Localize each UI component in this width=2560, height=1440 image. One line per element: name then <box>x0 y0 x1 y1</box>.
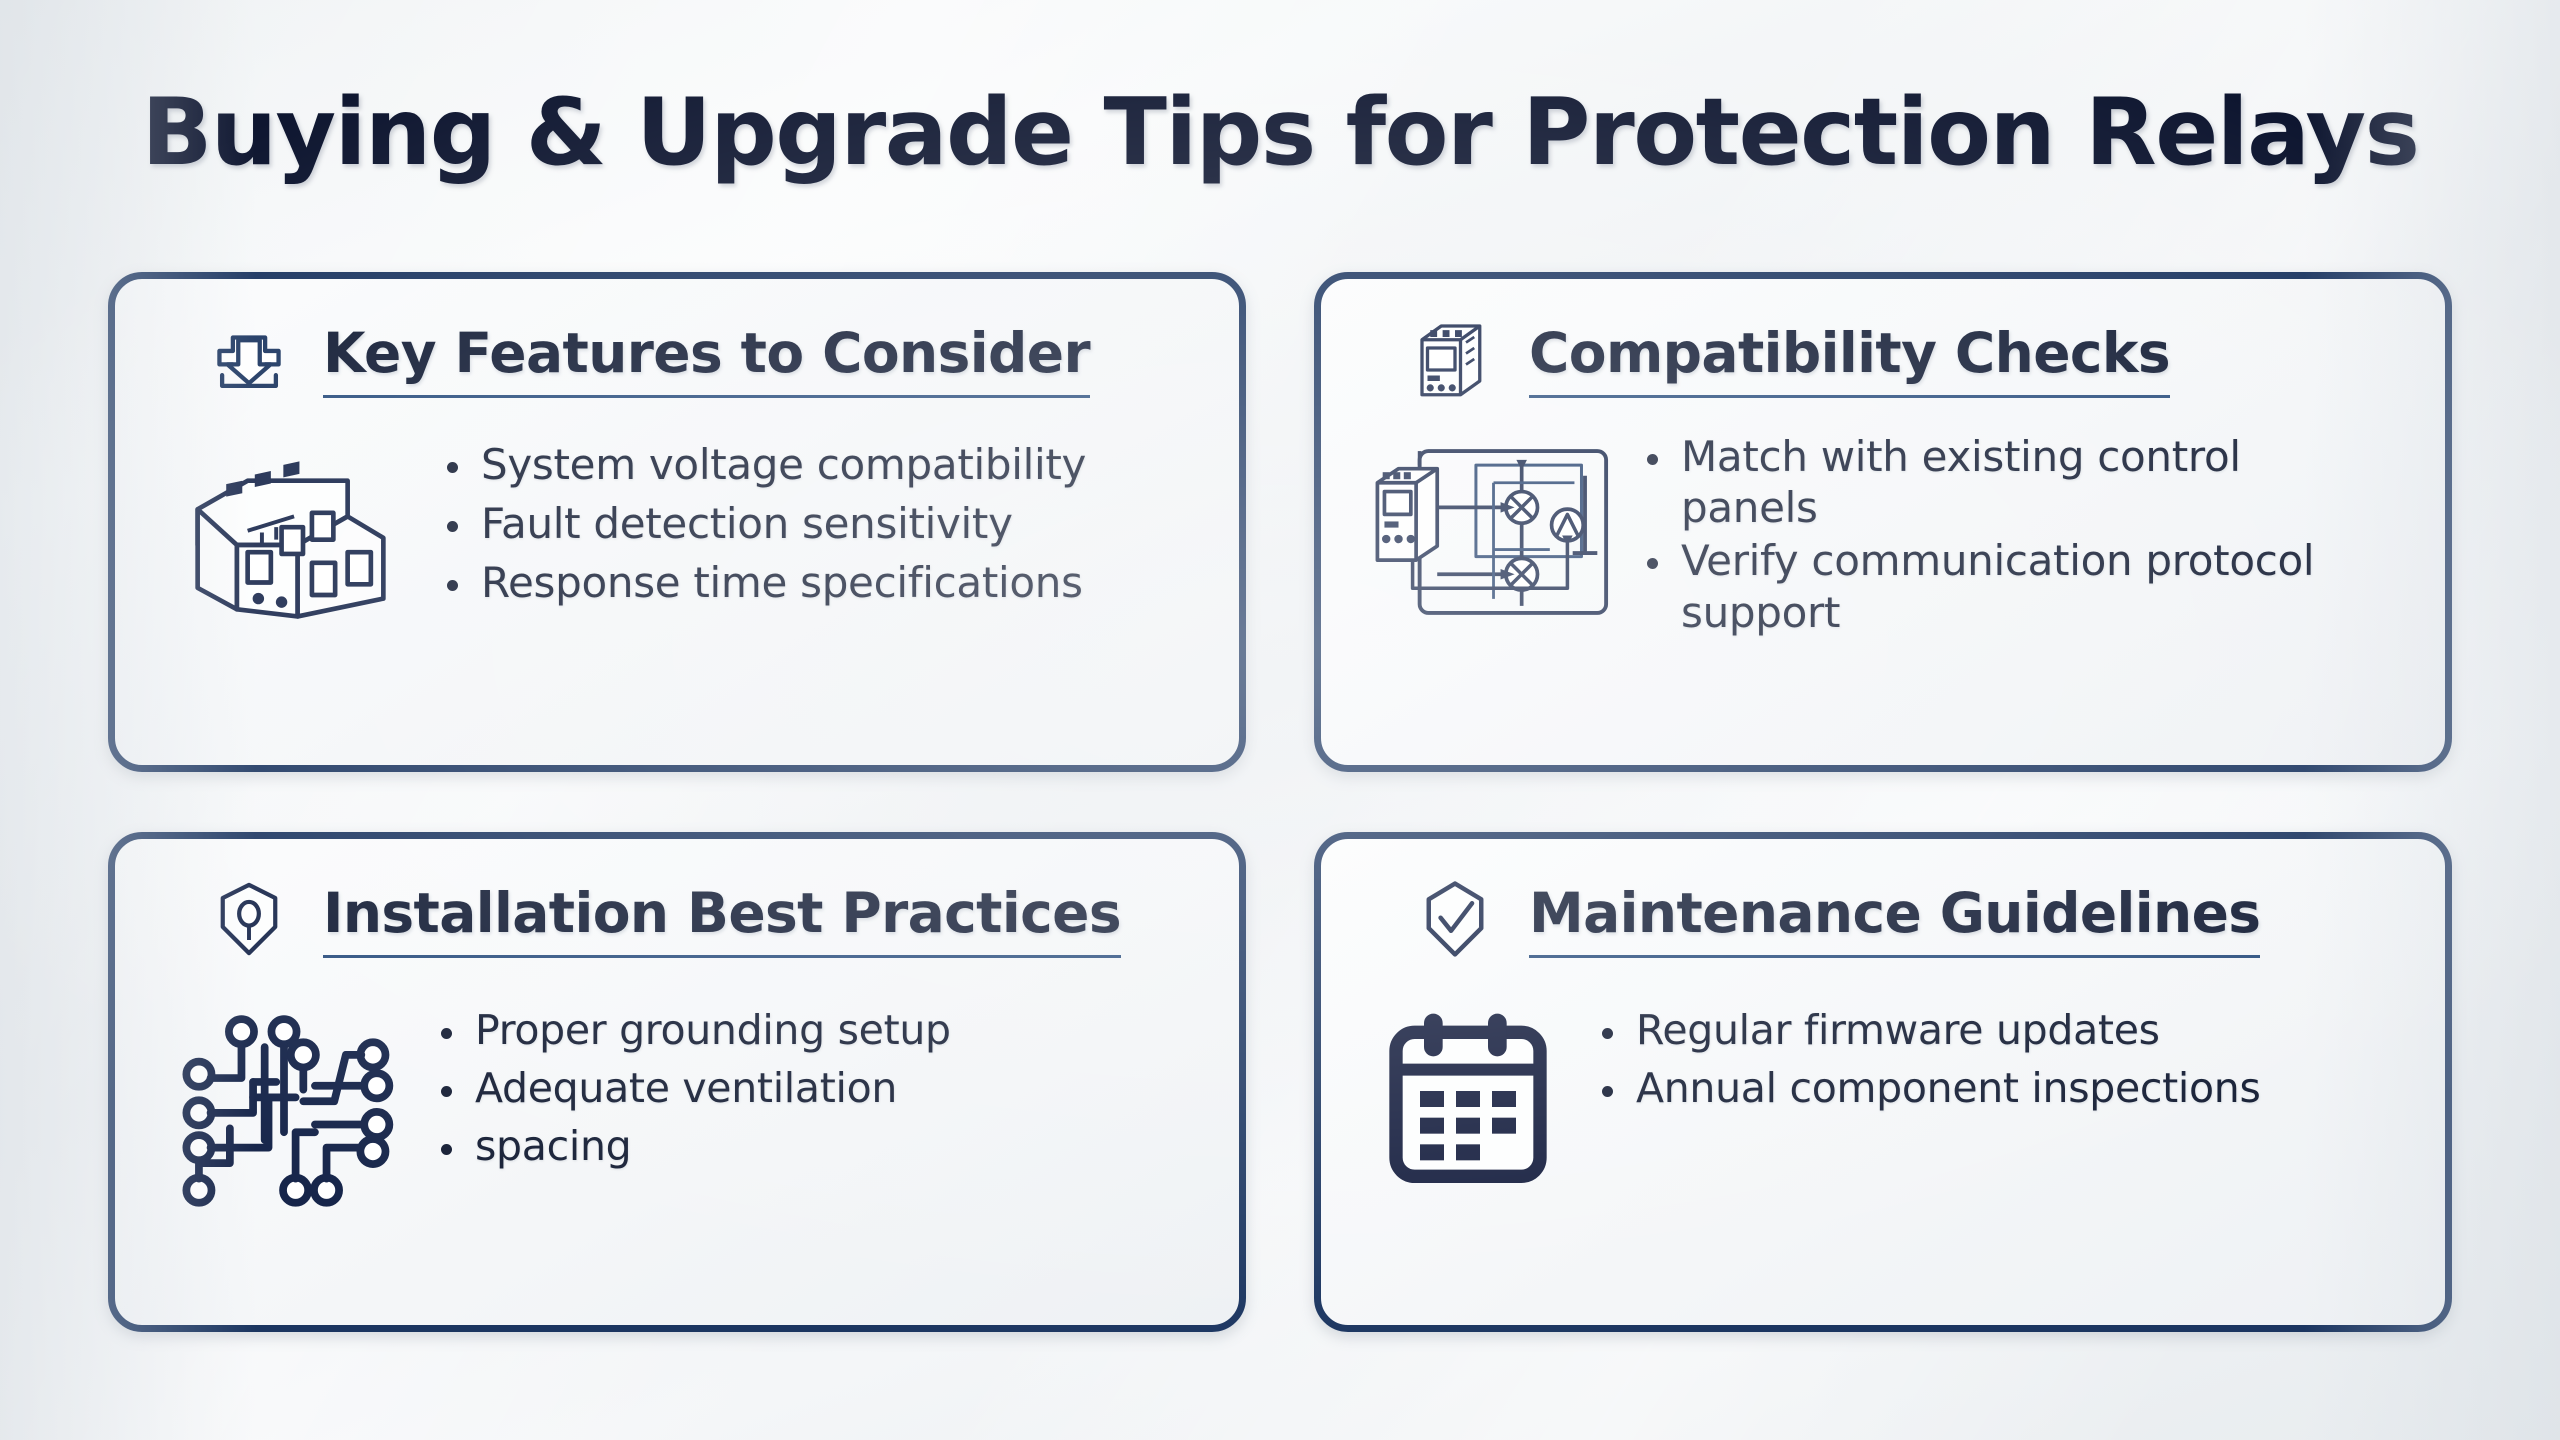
card-body: Proper grounding setup Adequate ventilat… <box>159 1005 1199 1241</box>
card-installation-best-practices: Installation Best Practices <box>108 832 1246 1332</box>
download-arrow-icon <box>203 313 295 405</box>
card-body: Match with existing control panels Verif… <box>1365 431 2405 667</box>
list-item: Adequate ventilation <box>435 1063 951 1113</box>
card-header: Compatibility Checks <box>1409 313 2405 405</box>
card-title: Key Features to Consider <box>323 321 1090 398</box>
infographic-canvas: Buying & Upgrade Tips for Protection Rel… <box>0 0 2560 1440</box>
calendar-icon <box>1365 1005 1570 1241</box>
wiring-schematic-icon <box>1365 431 1615 667</box>
bullet-list: System voltage compatibility Fault detec… <box>441 439 1086 617</box>
relay-device-icon <box>1409 313 1501 405</box>
list-item: Proper grounding setup <box>435 1005 951 1055</box>
list-item: Response time specifications <box>441 557 1086 608</box>
shield-location-icon <box>203 873 295 965</box>
card-compatibility-checks: Compatibility Checks <box>1314 272 2452 772</box>
card-title: Maintenance Guidelines <box>1529 881 2260 958</box>
bullet-list: Regular firmware updates Annual componen… <box>1596 1005 2261 1121</box>
card-header: Key Features to Consider <box>203 313 1199 405</box>
list-item: System voltage compatibility <box>441 439 1086 490</box>
list-item: spacing <box>435 1121 951 1171</box>
card-key-features: Key Features to Consider <box>108 272 1246 772</box>
card-title: Installation Best Practices <box>323 881 1121 958</box>
bullet-list: Proper grounding setup Adequate ventilat… <box>435 1005 951 1179</box>
card-header: Maintenance Guidelines <box>1409 873 2405 965</box>
card-body: System voltage compatibility Fault detec… <box>159 439 1199 675</box>
card-header: Installation Best Practices <box>203 873 1199 965</box>
list-item: Annual component inspections <box>1596 1063 2261 1113</box>
card-maintenance-guidelines: Maintenance Guidelines <box>1314 832 2452 1332</box>
shield-check-icon <box>1409 873 1501 965</box>
cards-grid: Key Features to Consider <box>108 272 2452 1332</box>
card-title: Compatibility Checks <box>1529 321 2170 398</box>
list-item: Match with existing control panels <box>1641 431 2321 533</box>
list-item: Regular firmware updates <box>1596 1005 2261 1055</box>
card-body: Regular firmware updates Annual componen… <box>1365 1005 2405 1241</box>
bullet-list: Match with existing control panels Verif… <box>1641 431 2321 640</box>
list-item: Fault detection sensitivity <box>441 498 1086 549</box>
circuit-board-icon <box>159 1005 409 1241</box>
page-title: Buying & Upgrade Tips for Protection Rel… <box>0 78 2560 186</box>
list-item: Verify communication protocol support <box>1641 535 2321 637</box>
relay-module-isometric-icon <box>165 439 415 675</box>
